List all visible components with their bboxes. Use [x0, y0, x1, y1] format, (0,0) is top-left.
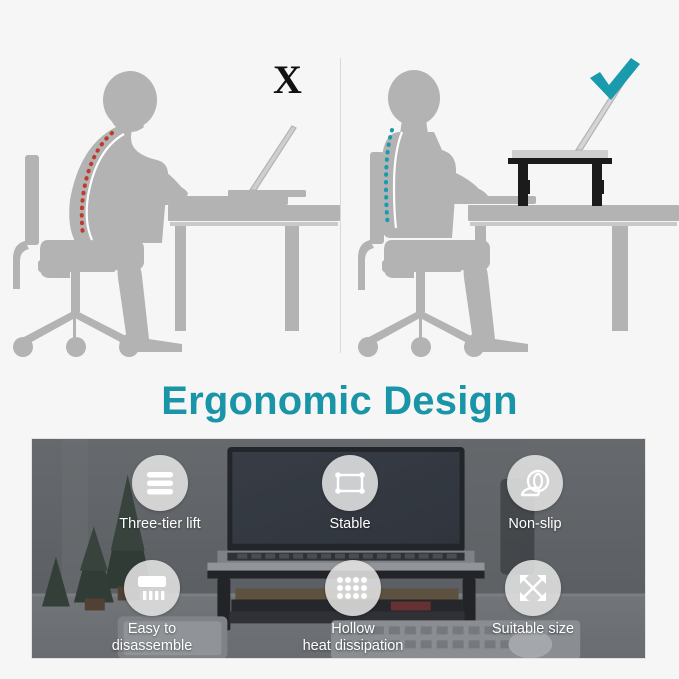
- page-title: Ergonomic Design: [161, 379, 518, 424]
- expand-arrows-icon: [505, 560, 561, 616]
- feature-stable[interactable]: Stable: [290, 455, 410, 533]
- bad-posture-illustration: [0, 0, 340, 370]
- feature-three-tier-lift[interactable]: Three-tier lift: [100, 455, 220, 533]
- feature-non-slip[interactable]: Non-slip: [475, 455, 595, 533]
- feature-hollow-heat-dissipation[interactable]: Hollow heat dissipation: [293, 560, 413, 655]
- feature-easy-to-disassemble[interactable]: Easy to disassemble: [92, 560, 212, 655]
- posture-comparison-panel: X: [0, 0, 679, 370]
- feature-label: Easy to disassemble: [92, 621, 212, 655]
- laptop-riser-stand: [508, 150, 612, 206]
- dot-grid-icon: [325, 560, 381, 616]
- feature-label: Suitable size: [492, 621, 574, 638]
- feature-label: Non-slip: [508, 516, 561, 533]
- rectangle-corners-icon: [322, 455, 378, 511]
- three-bars-icon: [132, 455, 188, 511]
- ergonomic-design-infographic: X Ergonomic Design: [0, 0, 679, 679]
- panel-legs-icon: [124, 560, 180, 616]
- title-band: Ergonomic Design: [0, 372, 679, 430]
- feature-label: Three-tier lift: [119, 516, 200, 533]
- tape-roll-icon: [507, 455, 563, 511]
- x-mark: X: [273, 60, 302, 100]
- feature-label: Stable: [329, 516, 370, 533]
- feature-suitable-size[interactable]: Suitable size: [473, 560, 593, 638]
- check-mark: [587, 54, 643, 104]
- feature-label: Hollow heat dissipation: [303, 621, 404, 655]
- bad-posture-scene: [0, 0, 340, 370]
